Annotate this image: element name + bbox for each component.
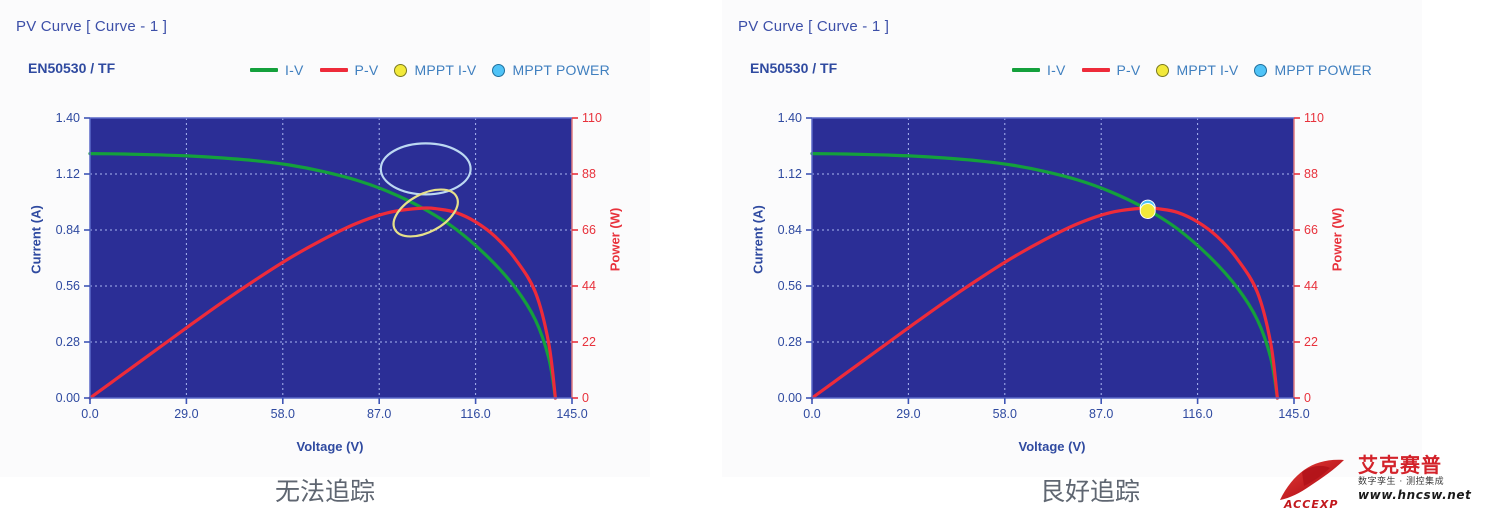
pv-curve-panel-left: PV Curve [ Curve - 1 ] EN50530 / TF I-V … (0, 0, 650, 477)
legend-label: P-V (355, 62, 379, 78)
panel-subtitle-standard: EN50530 / TF (750, 60, 837, 76)
watermark: ACCEXP 艾克赛普 数字孪生 · 测控集成 www.hncsw.net (1272, 452, 1486, 516)
y-axis-tick-label: 0.84 (56, 223, 80, 237)
caption-right: 艮好追踪 (1040, 472, 1140, 508)
legend-item-pv[interactable]: P-V (320, 62, 379, 78)
x-axis-tick-label: 0.0 (81, 407, 98, 421)
y-axis-tick-label: 0.00 (778, 391, 802, 405)
legend-item-mppt-iv[interactable]: MPPT I-V (1156, 62, 1238, 78)
x-axis-tick-label: 87.0 (1089, 407, 1113, 421)
watermark-text-block: 艾克赛普 数字孪生 · 测控集成 www.hncsw.net (1358, 454, 1486, 502)
legend-item-iv[interactable]: I-V (250, 62, 304, 78)
x-axis-tick-label: 145.0 (556, 407, 587, 421)
legend-label: MPPT POWER (512, 62, 609, 78)
y-axis-tick-label: 1.40 (778, 111, 802, 125)
legend-item-mppt-power[interactable]: MPPT POWER (1254, 62, 1371, 78)
legend-item-mppt-power[interactable]: MPPT POWER (492, 62, 609, 78)
watermark-brand: 艾克赛普 (1358, 454, 1486, 476)
line-swatch-green-icon (1012, 68, 1040, 72)
dot-swatch-yellow-icon (394, 64, 407, 77)
y-axis-tick-label: 0.56 (778, 279, 802, 293)
chart-area-right: Current (A) Power (W) Voltage (V) 0.000.… (722, 95, 1422, 455)
y2-axis-title: Power (W) (1330, 200, 1345, 280)
y-axis-tick-label: 0.28 (778, 335, 802, 349)
y2-axis-tick-label: 88 (1304, 167, 1318, 181)
y2-axis-tick-label: 22 (582, 335, 596, 349)
y2-axis-tick-label: 66 (1304, 223, 1318, 237)
y-axis-tick-label: 0.84 (778, 223, 802, 237)
legend-label: MPPT POWER (1274, 62, 1371, 78)
mppt-marker-mppt-i-v (1140, 204, 1155, 219)
dot-swatch-cyan-icon (492, 64, 505, 77)
y2-axis-tick-label: 66 (582, 223, 596, 237)
x-axis-tick-label: 29.0 (174, 407, 198, 421)
y2-axis-tick-label: 110 (1304, 111, 1324, 125)
plot-background (90, 118, 572, 398)
y-axis-title: Current (A) (751, 200, 766, 280)
legend-item-mppt-iv[interactable]: MPPT I-V (394, 62, 476, 78)
legend-item-iv[interactable]: I-V (1012, 62, 1066, 78)
pv-curve-panel-right: PV Curve [ Curve - 1 ] EN50530 / TF I-V … (722, 0, 1422, 477)
legend-label: P-V (1117, 62, 1141, 78)
screenshot-stage: PV Curve [ Curve - 1 ] EN50530 / TF I-V … (0, 0, 1489, 518)
dot-swatch-cyan-icon (1254, 64, 1267, 77)
y2-axis-tick-label: 88 (582, 167, 596, 181)
y-axis-tick-label: 0.28 (56, 335, 80, 349)
chart-legend: I-V P-V MPPT I-V MPPT POWER (250, 62, 610, 78)
pv-curve-plot-right[interactable]: 0.000.280.560.841.121.400224466881100.02… (722, 95, 1372, 435)
y2-axis-tick-label: 22 (1304, 335, 1318, 349)
legend-label: I-V (1047, 62, 1066, 78)
x-axis-tick-label: 58.0 (271, 407, 295, 421)
y-axis-tick-label: 0.00 (56, 391, 80, 405)
accexp-logo-icon: ACCEXP (1272, 456, 1356, 512)
line-swatch-red-icon (320, 68, 348, 72)
panel-title: PV Curve [ Curve - 1 ] (16, 18, 167, 35)
chart-area-left: Current (A) Power (W) Voltage (V) 0.000.… (0, 95, 650, 455)
x-axis-tick-label: 145.0 (1278, 407, 1309, 421)
plot-background (812, 118, 1294, 398)
line-swatch-red-icon (1082, 68, 1110, 72)
chart-legend: I-V P-V MPPT I-V MPPT POWER (1012, 62, 1372, 78)
y-axis-tick-label: 0.56 (56, 279, 80, 293)
legend-label: MPPT I-V (414, 62, 476, 78)
pv-curve-plot-left[interactable]: 0.000.280.560.841.121.400224466881100.02… (0, 95, 650, 435)
y2-axis-tick-label: 110 (582, 111, 602, 125)
line-swatch-green-icon (250, 68, 278, 72)
x-axis-tick-label: 29.0 (896, 407, 920, 421)
x-axis-tick-label: 116.0 (460, 407, 490, 421)
y2-axis-tick-label: 0 (582, 391, 589, 405)
caption-left: 无法追踪 (275, 472, 375, 508)
panel-subtitle-standard: EN50530 / TF (28, 60, 115, 76)
y2-axis-tick-label: 44 (582, 279, 596, 293)
x-axis-tick-label: 116.0 (1182, 407, 1212, 421)
panel-title: PV Curve [ Curve - 1 ] (738, 18, 889, 35)
y-axis-tick-label: 1.40 (56, 111, 80, 125)
x-axis-tick-label: 87.0 (367, 407, 391, 421)
watermark-tagline: 数字孪生 · 测控集成 (1358, 476, 1486, 488)
legend-item-pv[interactable]: P-V (1082, 62, 1141, 78)
y2-axis-tick-label: 44 (1304, 279, 1318, 293)
y-axis-title: Current (A) (29, 200, 44, 280)
watermark-url: www.hncsw.net (1358, 488, 1486, 502)
x-axis-title: Voltage (V) (0, 439, 660, 454)
y-axis-tick-label: 1.12 (56, 167, 80, 181)
legend-label: MPPT I-V (1176, 62, 1238, 78)
legend-label: I-V (285, 62, 304, 78)
y2-axis-tick-label: 0 (1304, 391, 1311, 405)
y-axis-tick-label: 1.12 (778, 167, 802, 181)
y2-axis-title: Power (W) (608, 200, 623, 280)
x-axis-tick-label: 58.0 (993, 407, 1017, 421)
dot-swatch-yellow-icon (1156, 64, 1169, 77)
svg-text:ACCEXP: ACCEXP (1283, 498, 1338, 511)
x-axis-tick-label: 0.0 (803, 407, 820, 421)
